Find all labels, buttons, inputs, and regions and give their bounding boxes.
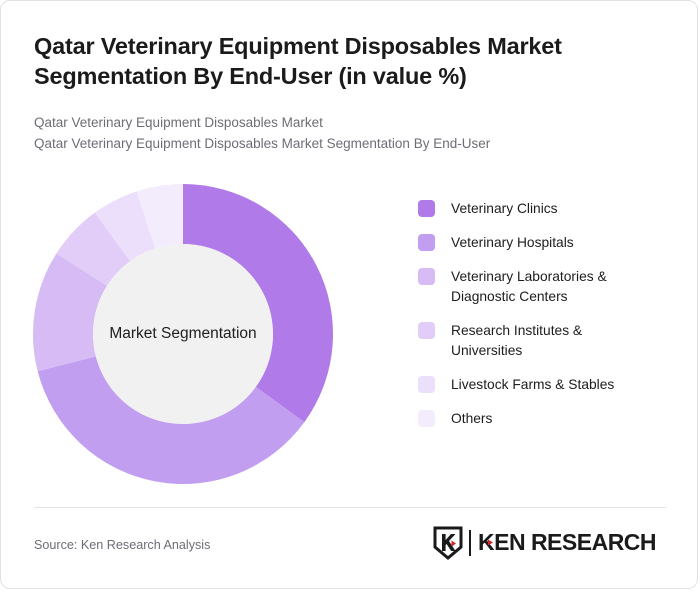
donut-slices bbox=[33, 184, 333, 484]
legend-item-label: Veterinary Laboratories & Diagnostic Cen… bbox=[451, 267, 651, 307]
logo-divider bbox=[469, 530, 471, 556]
legend-item-label: Others bbox=[451, 409, 492, 429]
legend-swatch-icon bbox=[418, 410, 435, 427]
legend-item[interactable]: Research Institutes & Universities bbox=[418, 321, 683, 361]
ken-research-logo: KEN RESEARCH bbox=[433, 525, 666, 561]
donut-svg bbox=[33, 184, 333, 484]
legend-item[interactable]: Veterinary Hospitals bbox=[418, 233, 683, 253]
ken-research-wordmark: KEN RESEARCH bbox=[478, 530, 666, 556]
subtitle-line-1: Qatar Veterinary Equipment Disposables M… bbox=[34, 113, 654, 134]
donut-hole bbox=[93, 244, 273, 424]
legend-swatch-icon bbox=[418, 234, 435, 251]
legend-item-label: Livestock Farms & Stables bbox=[451, 375, 614, 395]
legend-item[interactable]: Others bbox=[418, 409, 683, 429]
source-note: Source: Ken Research Analysis bbox=[34, 538, 210, 552]
subtitle-line-2: Qatar Veterinary Equipment Disposables M… bbox=[34, 134, 654, 155]
chart-legend: Veterinary ClinicsVeterinary HospitalsVe… bbox=[418, 199, 683, 443]
legend-item[interactable]: Veterinary Clinics bbox=[418, 199, 683, 219]
chart-card: Qatar Veterinary Equipment Disposables M… bbox=[0, 0, 698, 589]
legend-swatch-icon bbox=[418, 376, 435, 393]
legend-swatch-icon bbox=[418, 322, 435, 339]
legend-item-label: Veterinary Hospitals bbox=[451, 233, 574, 253]
legend-item-label: Veterinary Clinics bbox=[451, 199, 558, 219]
legend-swatch-icon bbox=[418, 200, 435, 217]
legend-item[interactable]: Veterinary Laboratories & Diagnostic Cen… bbox=[418, 267, 683, 307]
legend-item[interactable]: Livestock Farms & Stables bbox=[418, 375, 683, 395]
svg-text:KEN RESEARCH: KEN RESEARCH bbox=[478, 530, 656, 555]
footer-divider bbox=[34, 507, 666, 508]
shield-k-icon bbox=[433, 526, 463, 560]
legend-item-label: Research Institutes & Universities bbox=[451, 321, 651, 361]
legend-swatch-icon bbox=[418, 268, 435, 285]
page-title: Qatar Veterinary Equipment Disposables M… bbox=[34, 31, 634, 91]
chart-area: Market Segmentation Veterinary ClinicsVe… bbox=[1, 166, 698, 496]
subtitle-block: Qatar Veterinary Equipment Disposables M… bbox=[34, 113, 654, 155]
donut-chart: Market Segmentation bbox=[33, 184, 333, 484]
